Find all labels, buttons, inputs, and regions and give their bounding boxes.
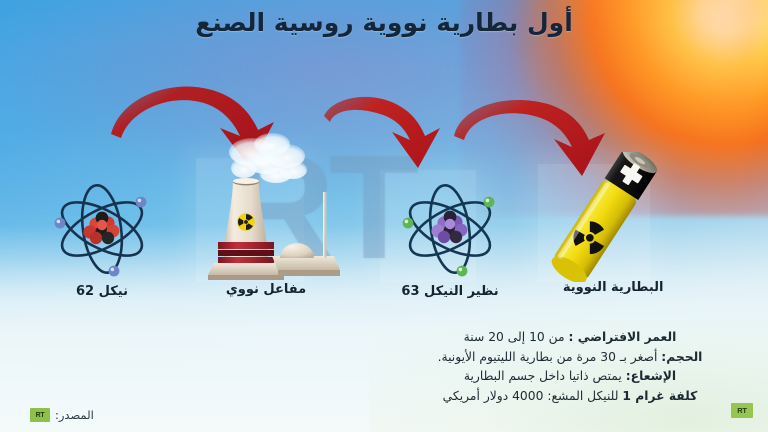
fact-line-radiation: الإشعاع: يمتص ذاتيا داخل جسم البطارية [386, 367, 754, 386]
fact-value-size: أصغر بـ 30 مرة من بطارية الليتيوم الأيون… [438, 350, 658, 364]
stage-nuclear-battery: البطارية النووية [530, 152, 690, 300]
atom-icon [38, 176, 166, 282]
page-title: أول بطارية نووية روسية الصنع [0, 6, 768, 40]
fact-key-size: الحجم: [661, 350, 702, 364]
fact-key-lifespan: العمر الافتراضي : [569, 330, 677, 344]
atom-nucleus [83, 212, 119, 245]
fact-line-cost: كلفة غرام 1 للنيكل المشع: 4000 دولار أمر… [386, 387, 754, 406]
infographic-canvas: RT أول بطارية نووية روسية الصنع [0, 0, 768, 432]
fact-value-radiation: يمتص ذاتيا داخل جسم البطارية [464, 369, 622, 383]
stage-label-nickel-62: نيكل 62 [76, 284, 128, 299]
stage-label-nuclear-battery: البطارية النووية [563, 280, 664, 295]
radiation-symbol-icon [237, 213, 255, 231]
rt-logo-corner-icon: RT [731, 403, 753, 418]
fact-line-size: الحجم: أصغر بـ 30 مرة من بطارية الليتيوم… [386, 348, 754, 367]
source-label: المصدر: [55, 408, 94, 422]
reactor-dome [280, 243, 314, 258]
source-credit: المصدر: RT [30, 408, 94, 422]
atom-icon [386, 176, 514, 282]
fact-key-radiation: الإشعاع: [626, 369, 676, 383]
battery-icon [530, 152, 690, 282]
fact-key-cost: كلفة غرام 1 [622, 389, 697, 403]
fact-value-cost: للنيكل المشع: 4000 دولار أمريكي [443, 389, 619, 403]
stage-nuclear-reactor: مفاعل نووي [188, 130, 344, 300]
stage-nickel-63-isotope: نظير النيكل 63 [386, 176, 514, 300]
steam-plume [229, 133, 307, 183]
stage-nickel-62: نيكل 62 [38, 176, 166, 300]
fact-value-lifespan: من 10 إلى 20 سنة [464, 330, 565, 344]
stage-label-nickel-63-isotope: نظير النيكل 63 [401, 284, 498, 299]
fact-line-lifespan: العمر الافتراضي : من 10 إلى 20 سنة [386, 328, 754, 347]
stage-label-nuclear-reactor: مفاعل نووي [226, 282, 306, 297]
rt-logo-icon: RT [30, 408, 50, 422]
nuclear-reactor-icon [188, 130, 344, 286]
facts-block: العمر الافتراضي : من 10 إلى 20 سنة الحجم… [386, 328, 754, 406]
